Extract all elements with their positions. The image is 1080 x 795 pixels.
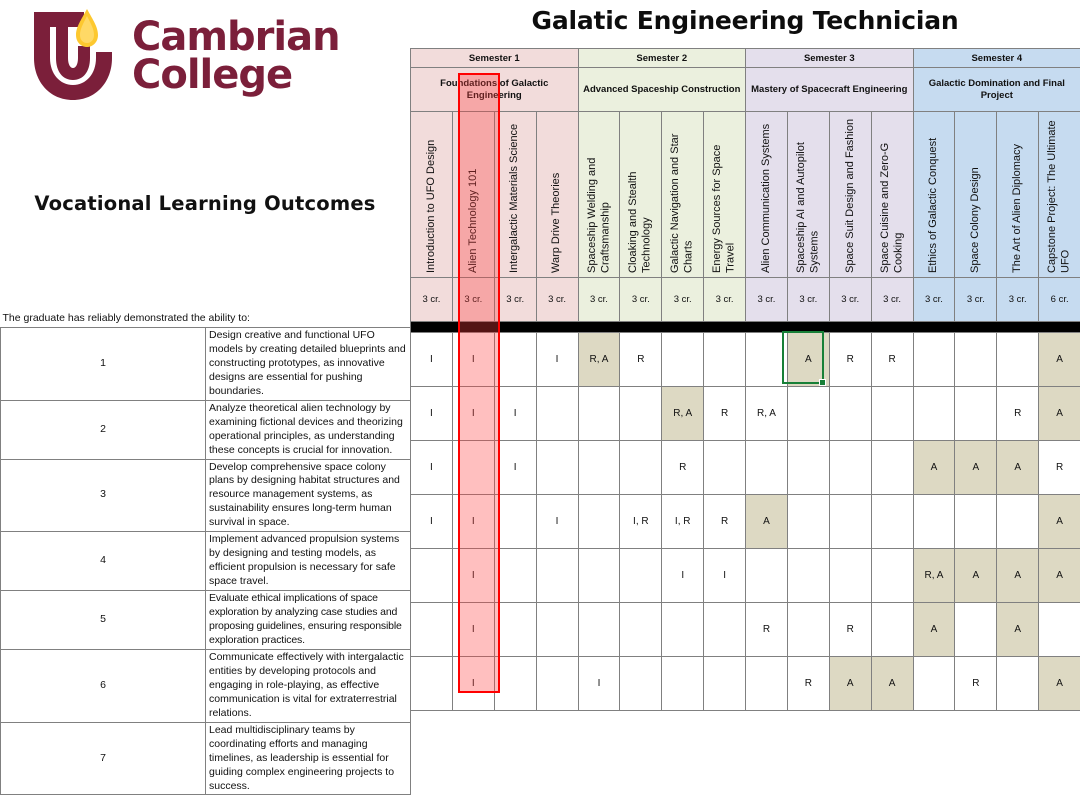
matrix-cell-r7c14[interactable]: R [955, 657, 997, 711]
course-name-label: Capstone Project: The Ultimate UFO [1046, 116, 1073, 273]
matrix-cell-value: A [931, 462, 938, 473]
matrix-cell-r6c7[interactable] [662, 603, 704, 657]
matrix-cell-r3c2[interactable] [452, 441, 494, 495]
divider-bar-row [411, 322, 1080, 333]
matrix-cell-r4c12[interactable] [871, 495, 913, 549]
course-credits-3: 3 cr. [494, 278, 536, 322]
credit-header-row: 3 cr.3 cr.3 cr.3 cr.3 cr.3 cr.3 cr.3 cr.… [411, 278, 1080, 322]
course-name-label: Spaceship AI and Autopilot Systems [795, 116, 822, 273]
course-header-row: Introduction to UFO DesignAlien Technolo… [411, 112, 1080, 278]
matrix-cell-r5c1[interactable] [411, 549, 453, 603]
matrix-cell-r1c12[interactable]: R [871, 333, 913, 387]
outcome-row-6: 6Communicate effectively with intergalac… [1, 649, 411, 722]
matrix-cell-r2c13[interactable] [913, 387, 955, 441]
matrix-cell-r7c7[interactable] [662, 657, 704, 711]
matrix-cell-r7c12[interactable]: A [871, 657, 913, 711]
matrix-cell-r6c12[interactable] [871, 603, 913, 657]
matrix-cell-value: I [514, 462, 517, 473]
matrix-cell-r5c5[interactable] [578, 549, 620, 603]
matrix-cell-r2c12[interactable] [871, 387, 913, 441]
course-header-16[interactable]: Capstone Project: The Ultimate UFO [1039, 112, 1080, 278]
matrix-cell-r4c5[interactable] [578, 495, 620, 549]
matrix-cell-value: I [430, 516, 433, 527]
course-header-2[interactable]: Alien Technology 101 [452, 112, 494, 278]
matrix-cell-r3c8[interactable] [704, 441, 746, 495]
matrix-cell-r4c13[interactable] [913, 495, 955, 549]
outcome-text: Evaluate ethical implications of space e… [206, 591, 411, 650]
matrix-cell-value: R [847, 354, 854, 365]
course-header-13[interactable]: Ethics of Galactic Conquest [913, 112, 955, 278]
matrix-cell-r5c13[interactable]: R, A [913, 549, 955, 603]
matrix-cell-value: I [430, 408, 433, 419]
matrix-cell-value: I, R [675, 516, 691, 527]
matrix-cell-r6c14[interactable] [955, 603, 997, 657]
course-credits-2: 3 cr. [452, 278, 494, 322]
course-credits-8: 3 cr. [704, 278, 746, 322]
matrix-cell-r3c13[interactable]: A [913, 441, 955, 495]
matrix-cell-r5c14[interactable]: A [955, 549, 997, 603]
course-credits-1: 3 cr. [411, 278, 453, 322]
outcome-number: 1 [1, 327, 206, 400]
course-name-label: Spaceship Welding and Craftsmanship [586, 116, 613, 273]
course-header-15[interactable]: The Art of Alien Diplomacy [997, 112, 1039, 278]
matrix-cell-r6c10[interactable] [787, 603, 829, 657]
program-name-3: Mastery of Spacecraft Engineering [746, 68, 914, 112]
program-name-1: Foundations of Galactic Engineering [411, 68, 579, 112]
matrix-cell-r2c10[interactable] [787, 387, 829, 441]
semester-header-row: Semester 1Semester 2Semester 3Semester 4 [411, 49, 1080, 68]
course-credits-10: 3 cr. [787, 278, 829, 322]
outcome-number: 6 [1, 649, 206, 722]
outcome-row-1: 1Design creative and functional UFO mode… [1, 327, 411, 400]
outcome-row-7: 7Lead multidisciplinary teams by coordin… [1, 722, 411, 795]
matrix-cell-r7c6[interactable] [620, 657, 662, 711]
matrix-cell-r1c1[interactable]: I [411, 333, 453, 387]
outcome-row-5: 5Evaluate ethical implications of space … [1, 591, 411, 650]
matrix-cell-r7c11[interactable]: A [829, 657, 871, 711]
matrix-cell-r2c5[interactable] [578, 387, 620, 441]
semester-header-3: Semester 3 [746, 49, 914, 68]
matrix-cell-value: I [430, 354, 433, 365]
course-credits-11: 3 cr. [829, 278, 871, 322]
matrix-cell-r1c15[interactable] [997, 333, 1039, 387]
matrix-cell-r5c6[interactable] [620, 549, 662, 603]
matrix-cell-r6c11[interactable]: R [829, 603, 871, 657]
matrix-cell-value: I [723, 570, 726, 581]
matrix-row-6: IRRAA [411, 603, 1080, 657]
course-credits-12: 3 cr. [871, 278, 913, 322]
matrix-cell-r4c15[interactable] [997, 495, 1039, 549]
course-name-label: Cloaking and Stealth Technology [627, 116, 654, 273]
matrix-cell-r6c3[interactable] [494, 603, 536, 657]
course-credits-15: 3 cr. [997, 278, 1039, 322]
matrix-cell-r1c7[interactable] [662, 333, 704, 387]
brand-name-line1: Cambrian [132, 18, 340, 56]
matrix-cell-r3c10[interactable] [787, 441, 829, 495]
matrix-cell-r7c4[interactable] [536, 657, 578, 711]
matrix-cell-r3c5[interactable] [578, 441, 620, 495]
outcome-text: Lead multidisciplinary teams by coordina… [206, 722, 411, 795]
matrix-cell-r4c11[interactable] [829, 495, 871, 549]
matrix-cell-value: A [1056, 678, 1063, 689]
matrix-cell-r6c16[interactable] [1039, 603, 1080, 657]
matrix-data-body: IIIR, ARARRAIIIR, ARR, ARAIIRAAARIIII, R… [411, 333, 1080, 711]
matrix-cell-r6c13[interactable]: A [913, 603, 955, 657]
matrix-cell-r5c16[interactable]: A [1039, 549, 1080, 603]
course-header-8[interactable]: Energy Sources for Space Travel [704, 112, 746, 278]
outcome-number: 5 [1, 591, 206, 650]
course-name-label: Galactic Navigation and Star Charts [669, 116, 696, 273]
matrix-cell-r3c4[interactable] [536, 441, 578, 495]
course-name-label: Energy Sources for Space Travel [711, 116, 738, 273]
page-section-title: Vocational Learning Outcomes [0, 192, 410, 215]
course-header-1[interactable]: Introduction to UFO Design [411, 112, 453, 278]
matrix-cell-r5c3[interactable] [494, 549, 536, 603]
program-name-4: Galactic Domination and Final Project [913, 68, 1080, 112]
brand-wordmark: Cambrian College [132, 18, 340, 94]
matrix-cell-r2c3[interactable]: I [494, 387, 536, 441]
matrix-cell-r3c15[interactable]: A [997, 441, 1039, 495]
matrix-cell-value: I, R [633, 516, 649, 527]
matrix-cell-r4c4[interactable]: I [536, 495, 578, 549]
matrix-cell-r1c14[interactable] [955, 333, 997, 387]
outcome-row-3: 3Develop comprehensive space colony plan… [1, 459, 411, 532]
matrix-cell-r5c4[interactable] [536, 549, 578, 603]
matrix-cell-value: A [931, 624, 938, 635]
matrix-cell-r5c11[interactable] [829, 549, 871, 603]
matrix-cell-r2c11[interactable] [829, 387, 871, 441]
course-header-6[interactable]: Cloaking and Stealth Technology [620, 112, 662, 278]
course-name-label: Space Colony Design [969, 116, 982, 273]
matrix-cell-value: A [1014, 624, 1021, 635]
matrix-cell-r2c6[interactable] [620, 387, 662, 441]
matrix-cell-value: I [514, 408, 517, 419]
matrix-cell-r6c4[interactable] [536, 603, 578, 657]
matrix-cell-r7c9[interactable] [746, 657, 788, 711]
matrix-cell-r1c2[interactable]: I [452, 333, 494, 387]
matrix-cell-r2c9[interactable]: R, A [746, 387, 788, 441]
matrix-cell-r1c16[interactable]: A [1039, 333, 1080, 387]
course-header-10[interactable]: Spaceship AI and Autopilot Systems [787, 112, 829, 278]
matrix-cell-r3c14[interactable]: A [955, 441, 997, 495]
matrix-cell-r2c16[interactable]: A [1039, 387, 1080, 441]
matrix-cell-value: R, A [925, 570, 944, 581]
outcome-text: Communicate effectively with intergalact… [206, 649, 411, 722]
matrix-cell-value: A [1014, 462, 1021, 473]
course-name-label: The Art of Alien Diplomacy [1011, 116, 1024, 273]
matrix-cell-r7c15[interactable] [997, 657, 1039, 711]
matrix-cell-value: I [430, 462, 433, 473]
matrix-cell-value: I [556, 354, 559, 365]
page-title: Galatic Engineering Technician [410, 6, 1080, 35]
matrix-cell-r5c12[interactable] [871, 549, 913, 603]
semester-header-4: Semester 4 [913, 49, 1080, 68]
matrix-cell-value: I [472, 408, 475, 419]
matrix-cell-value: A [763, 516, 770, 527]
matrix-cell-value: I [472, 516, 475, 527]
outcome-text: Implement advanced propulsion systems by… [206, 532, 411, 591]
semester-header-2: Semester 2 [578, 49, 746, 68]
matrix-cell-r1c11[interactable]: R [829, 333, 871, 387]
matrix-cell-r3c11[interactable] [829, 441, 871, 495]
course-name-label: Space Suit Design and Fashion [844, 116, 857, 273]
matrix-cell-value: R [721, 408, 728, 419]
matrix-cell-value: A [1056, 516, 1063, 527]
matrix-cell-value: A [973, 570, 980, 581]
outcome-text: Design creative and functional UFO model… [206, 327, 411, 400]
matrix-cell-r4c3[interactable] [494, 495, 536, 549]
course-name-label: Warp Drive Theories [550, 116, 563, 273]
matrix-cell-r5c15[interactable]: A [997, 549, 1039, 603]
matrix-cell-r1c8[interactable] [704, 333, 746, 387]
matrix-cell-r7c10[interactable]: R [787, 657, 829, 711]
matrix-cell-r5c9[interactable] [746, 549, 788, 603]
matrix-cell-r4c9[interactable]: A [746, 495, 788, 549]
matrix-cell-r2c8[interactable]: R [704, 387, 746, 441]
course-header-4[interactable]: Warp Drive Theories [536, 112, 578, 278]
course-credits-6: 3 cr. [620, 278, 662, 322]
matrix-cell-r4c14[interactable] [955, 495, 997, 549]
course-matrix-table: Semester 1Semester 2Semester 3Semester 4… [410, 48, 1080, 711]
matrix-cell-r2c15[interactable]: R [997, 387, 1039, 441]
matrix-row-5: IIIR, AAAA [411, 549, 1080, 603]
outcomes-table: The graduate has reliably demonstrated t… [0, 311, 411, 795]
matrix-cell-value: R, A [757, 408, 776, 419]
matrix-cell-r1c3[interactable] [494, 333, 536, 387]
course-header-5[interactable]: Spaceship Welding and Craftsmanship [578, 112, 620, 278]
course-name-label: Alien Technology 101 [467, 116, 480, 273]
outcome-row-4: 4Implement advanced propulsion systems b… [1, 532, 411, 591]
matrix-cell-value: R [679, 462, 686, 473]
matrix-cell-r5c8[interactable]: I [704, 549, 746, 603]
matrix-cell-r3c16[interactable]: R [1039, 441, 1080, 495]
matrix-cell-r1c6[interactable]: R [620, 333, 662, 387]
course-name-label: Intergalactic Materials Science [508, 116, 521, 273]
matrix-cell-r6c2[interactable]: I [452, 603, 494, 657]
matrix-cell-r1c9[interactable] [746, 333, 788, 387]
course-header-9[interactable]: Alien Communication Systems [746, 112, 788, 278]
course-credits-16: 6 cr. [1039, 278, 1080, 322]
course-credits-14: 3 cr. [955, 278, 997, 322]
program-header-row: Foundations of Galactic EngineeringAdvan… [411, 68, 1080, 112]
matrix-cell-value: I [472, 624, 475, 635]
course-name-label: Alien Communication Systems [760, 116, 773, 273]
outcome-number: 2 [1, 400, 206, 459]
course-header-7[interactable]: Galactic Navigation and Star Charts [662, 112, 704, 278]
matrix-cell-r4c6[interactable]: I, R [620, 495, 662, 549]
course-credits-5: 3 cr. [578, 278, 620, 322]
matrix-cell-value: A [1056, 408, 1063, 419]
matrix-cell-value: R [1014, 408, 1021, 419]
course-credits-4: 3 cr. [536, 278, 578, 322]
matrix-cell-value: A [1056, 570, 1063, 581]
matrix-row-4: IIII, RI, RRAA [411, 495, 1080, 549]
matrix-cell-r2c4[interactable] [536, 387, 578, 441]
course-header-14[interactable]: Space Colony Design [955, 112, 997, 278]
matrix-cell-r2c14[interactable] [955, 387, 997, 441]
outcome-row-2: 2Analyze theoretical alien technology by… [1, 400, 411, 459]
matrix-cell-r7c16[interactable]: A [1039, 657, 1080, 711]
matrix-cell-r6c8[interactable] [704, 603, 746, 657]
course-credits-13: 3 cr. [913, 278, 955, 322]
matrix-cell-r3c9[interactable] [746, 441, 788, 495]
matrix-cell-r6c15[interactable]: A [997, 603, 1039, 657]
matrix-cell-r3c3[interactable]: I [494, 441, 536, 495]
matrix-cell-r3c6[interactable] [620, 441, 662, 495]
course-header-11[interactable]: Space Suit Design and Fashion [829, 112, 871, 278]
matrix-cell-r3c7[interactable]: R [662, 441, 704, 495]
matrix-cell-r7c5[interactable]: I [578, 657, 620, 711]
matrix-cell-r7c8[interactable] [704, 657, 746, 711]
matrix-cell-value: R [763, 624, 770, 635]
matrix-cell-r1c13[interactable] [913, 333, 955, 387]
matrix-cell-r4c1[interactable]: I [411, 495, 453, 549]
matrix-cell-r7c1[interactable] [411, 657, 453, 711]
matrix-cell-r7c2[interactable]: I [452, 657, 494, 711]
matrix-cell-r6c9[interactable]: R [746, 603, 788, 657]
course-name-label: Space Cuisine and Zero-G Cooking [879, 116, 906, 273]
matrix-cell-value: R [1056, 462, 1063, 473]
matrix-cell-value: R [637, 354, 644, 365]
matrix-cell-value: R, A [590, 354, 609, 365]
matrix-cell-value: I [681, 570, 684, 581]
matrix-cell-value: R [972, 678, 979, 689]
divider-bar [411, 322, 1080, 333]
matrix-cell-r4c8[interactable]: R [704, 495, 746, 549]
matrix-cell-value: I [598, 678, 601, 689]
matrix-row-1: IIIR, ARARRA [411, 333, 1080, 387]
matrix-cell-r1c5[interactable]: R, A [578, 333, 620, 387]
outcomes-body: 1Design creative and functional UFO mode… [1, 327, 411, 795]
matrix-cell-value: I [472, 570, 475, 581]
matrix-cell-r6c1[interactable] [411, 603, 453, 657]
matrix-cell-r2c1[interactable]: I [411, 387, 453, 441]
outcome-number: 3 [1, 459, 206, 532]
matrix-cell-value: R [805, 678, 812, 689]
matrix-cell-value: R [847, 624, 854, 635]
matrix-cell-r2c7[interactable]: R, A [662, 387, 704, 441]
course-name-label: Introduction to UFO Design [425, 116, 438, 273]
outcome-number: 7 [1, 722, 206, 795]
matrix-row-3: IIRAAAR [411, 441, 1080, 495]
course-header-12[interactable]: Space Cuisine and Zero-G Cooking [871, 112, 913, 278]
matrix-cell-r6c6[interactable] [620, 603, 662, 657]
brand-logo: Cambrian College [26, 4, 366, 108]
matrix-cell-value: A [1014, 570, 1021, 581]
matrix-cell-r4c7[interactable]: I, R [662, 495, 704, 549]
matrix-row-2: IIIR, ARR, ARA [411, 387, 1080, 441]
matrix-cell-r4c10[interactable] [787, 495, 829, 549]
brand-name-line2: College [132, 56, 340, 94]
course-name-label: Ethics of Galactic Conquest [927, 116, 940, 273]
matrix-cell-r1c10[interactable]: A [787, 333, 829, 387]
outcome-number: 4 [1, 532, 206, 591]
matrix-cell-r5c2[interactable]: I [452, 549, 494, 603]
matrix-cell-value: R, A [673, 408, 692, 419]
matrix-cell-r3c1[interactable]: I [411, 441, 453, 495]
outcome-text: Develop comprehensive space colony plans… [206, 459, 411, 532]
lead-in-text: The graduate has reliably demonstrated t… [1, 311, 411, 327]
semester-header-1: Semester 1 [411, 49, 579, 68]
matrix-cell-r2c2[interactable]: I [452, 387, 494, 441]
matrix-cell-value: A [805, 354, 812, 365]
matrix-cell-r6c5[interactable] [578, 603, 620, 657]
cambrian-shield-flame-logo [26, 6, 122, 106]
course-credits-7: 3 cr. [662, 278, 704, 322]
matrix-cell-r7c13[interactable] [913, 657, 955, 711]
matrix-cell-r7c3[interactable] [494, 657, 536, 711]
matrix-cell-r5c10[interactable] [787, 549, 829, 603]
lead-in-row: The graduate has reliably demonstrated t… [1, 311, 411, 327]
course-header-3[interactable]: Intergalactic Materials Science [494, 112, 536, 278]
matrix-cell-r5c7[interactable]: I [662, 549, 704, 603]
matrix-cell-r4c16[interactable]: A [1039, 495, 1080, 549]
matrix-cell-value: R [888, 354, 895, 365]
program-name-2: Advanced Spaceship Construction [578, 68, 746, 112]
matrix-row-7: IIRAARA [411, 657, 1080, 711]
matrix-cell-value: I [472, 678, 475, 689]
outcome-text: Analyze theoretical alien technology by … [206, 400, 411, 459]
matrix-cell-r4c2[interactable]: I [452, 495, 494, 549]
matrix-cell-value: A [1056, 354, 1063, 365]
matrix-cell-value: A [973, 462, 980, 473]
matrix-cell-value: I [556, 516, 559, 527]
course-credits-9: 3 cr. [746, 278, 788, 322]
matrix-cell-value: I [472, 354, 475, 365]
matrix-cell-value: A [889, 678, 896, 689]
matrix-cell-value: R [721, 516, 728, 527]
matrix-cell-value: A [847, 678, 854, 689]
matrix-cell-r1c4[interactable]: I [536, 333, 578, 387]
matrix-cell-r3c12[interactable] [871, 441, 913, 495]
